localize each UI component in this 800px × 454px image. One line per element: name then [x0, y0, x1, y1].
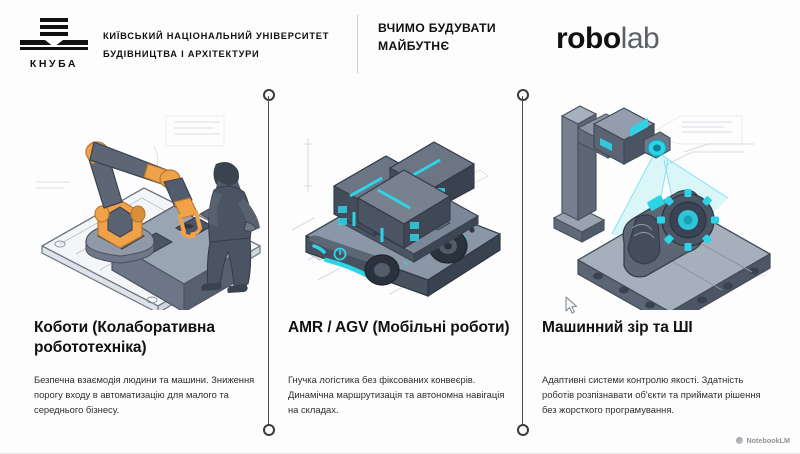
notebooklm-label: NotebookLM: [746, 436, 790, 445]
column-divider-2: [516, 88, 530, 436]
divider-line: [522, 96, 523, 426]
amr-agv-pallet-robot-illustration: [278, 94, 526, 310]
knuba-logo-word: КНУБА: [16, 58, 92, 70]
column-machine-vision: Машинний зір та ШІ Адаптивні системи кон…: [532, 88, 780, 454]
knuba-emblem-icon: [16, 18, 92, 54]
content-columns: Коботи (Колаборативна робототехніка) Без…: [0, 88, 800, 454]
column-body: Безпечна взаємодія людини та машини. Зни…: [34, 372, 262, 418]
divider-dot-bottom: [263, 424, 275, 436]
column-divider-1: [262, 88, 276, 436]
column-title: Коботи (Колаборативна робототехніка): [34, 318, 268, 358]
robolab-logo-bold: robo: [556, 22, 621, 55]
robolab-logo: robolab: [556, 22, 659, 56]
column-cobots: Коботи (Колаборативна робототехніка) Без…: [24, 88, 272, 454]
university-name: КИЇВСЬКИЙ НАЦІОНАЛЬНИЙ УНІВЕРСИТЕТ БУДІВ…: [103, 27, 353, 63]
column-body: Адаптивні системи контролю якості. Здатн…: [542, 372, 770, 418]
slide-header: КНУБА КИЇВСЬКИЙ НАЦІОНАЛЬНИЙ УНІВЕРСИТЕТ…: [0, 0, 800, 88]
header-divider: [357, 15, 358, 73]
robolab-logo-light: lab: [621, 22, 660, 55]
notebooklm-icon: [736, 437, 743, 444]
mouse-pointer-icon: [565, 296, 578, 314]
slide-canvas: КНУБА КИЇВСЬКИЙ НАЦІОНАЛЬНИЙ УНІВЕРСИТЕТ…: [0, 0, 800, 454]
robot-arm-workbench-illustration: [24, 94, 272, 310]
divider-line: [268, 96, 269, 426]
column-body: Гнучка логістика без фіксованих конвеєрі…: [288, 372, 516, 418]
machine-vision-conveyor-illustration: [532, 94, 780, 310]
column-title: Машинний зір та ШІ: [542, 318, 776, 338]
header-slogan: ВЧИМО БУДУВАТИ МАЙБУТНЄ: [378, 20, 508, 55]
column-title: AMR / AGV (Мобільні роботи): [288, 318, 522, 338]
divider-dot-bottom: [517, 424, 529, 436]
column-amr-agv: AMR / AGV (Мобільні роботи) Гнучка логіс…: [278, 88, 526, 454]
notebooklm-watermark: NotebookLM: [736, 436, 790, 445]
knuba-logo: КНУБА: [16, 18, 92, 74]
